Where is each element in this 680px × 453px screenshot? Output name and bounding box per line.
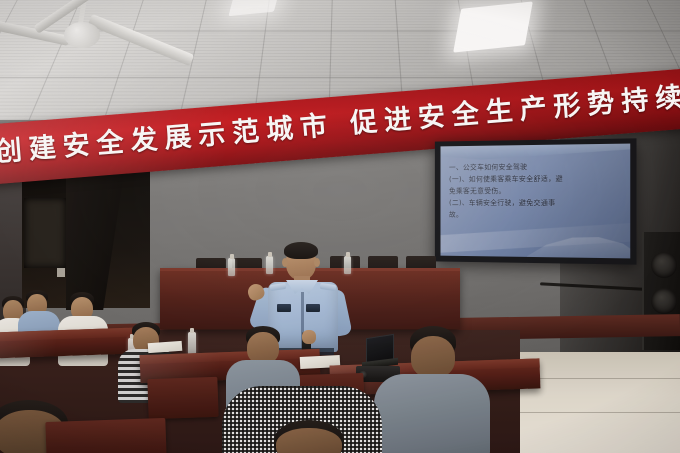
presenter-right-hand — [302, 330, 316, 344]
fan-blade — [0, 16, 70, 46]
photo-scene: 创建安全发展示范城市 促进安全生产形势持续稳定好 一、公交车如何安全驾驶 (一)… — [0, 0, 680, 453]
ceiling-light-panel-2 — [453, 1, 533, 52]
fan-hub — [64, 22, 100, 48]
presentation-slide: 一、公交车如何安全驾驶 (一)、如何使乘客乘车安全舒适，避 免乘客无意受伤。 (… — [440, 144, 630, 259]
slide-line: (二)、车辆安全行驶，避免交通事 — [449, 197, 623, 209]
speaker-cone — [651, 252, 677, 278]
doorway-light-glint — [57, 268, 65, 277]
chair-back — [45, 418, 166, 453]
slide-line: 免乘客无意受伤。 — [449, 185, 623, 197]
slide-line: 故。 — [449, 209, 623, 222]
attendee-dark-shirt-right — [378, 326, 486, 453]
presenter-ear — [314, 258, 320, 267]
doorway-panel — [24, 198, 66, 268]
ceiling-fan — [0, 0, 144, 70]
attendee-checkered-shirt — [196, 386, 376, 453]
water-bottle — [188, 332, 196, 354]
attendee-body — [374, 374, 490, 453]
presenter-chest-badge — [277, 304, 291, 312]
slide-line: (一)、如何使乘客乘车安全舒适，避 — [449, 172, 623, 185]
projection-screen: 一、公交车如何安全驾驶 (一)、如何使乘客乘车安全舒适，避 免乘客无意受伤。 (… — [435, 138, 637, 264]
speaker-cone — [651, 288, 677, 314]
attendee-head — [411, 336, 455, 378]
attendee-head — [276, 428, 342, 453]
presenter-chest-badge — [306, 304, 320, 312]
presenter-ear — [282, 258, 288, 267]
slide-text-block: 一、公交车如何安全驾驶 (一)、如何使乘客乘车安全舒适，避 免乘客无意受伤。 (… — [449, 160, 623, 221]
slide-header-band — [440, 144, 630, 160]
water-bottle — [228, 258, 235, 276]
presenter-hair — [284, 242, 318, 259]
